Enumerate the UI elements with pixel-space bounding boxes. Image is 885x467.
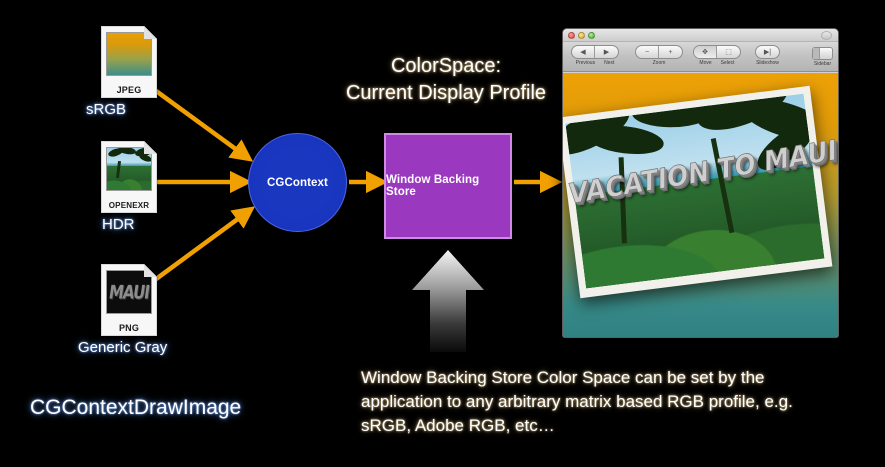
label-hdr: HDR <box>102 216 135 233</box>
colorspace-heading: ColorSpace: Current Display Profile <box>324 53 568 107</box>
window-titlebar[interactable] <box>563 29 838 42</box>
minimize-button-icon[interactable] <box>578 32 585 39</box>
select-tool-icon[interactable]: ⬚ <box>717 46 740 58</box>
page-fold-icon <box>144 26 157 39</box>
prev-next-segmented-control[interactable]: ◀ ▶ <box>571 45 619 59</box>
sidebar-label: Sidebar <box>814 61 831 67</box>
page-fold-icon <box>144 141 157 154</box>
move-tool-icon[interactable]: ✥ <box>694 46 717 58</box>
slideshow-button[interactable]: ▶| <box>755 45 780 59</box>
document-canvas[interactable]: VACATION TO MAUI <box>563 73 838 337</box>
arrow-gray-to-cgcontext <box>152 210 250 282</box>
slide-canvas: JPEG sRGB OPENEXR HDR MAUI PNG Generic G… <box>0 0 885 467</box>
file-kind-label: JPEG <box>101 85 157 95</box>
arrow-srgb-to-cgcontext <box>152 88 248 158</box>
toolbar-captions-navigation: Previous Next <box>576 60 615 66</box>
zoom-segmented-control[interactable]: − + <box>635 45 683 59</box>
label-generic-gray: Generic Gray <box>78 339 167 356</box>
preview-window[interactable]: ◀ ▶ Previous Next − + Zoom ✥ ⬚ <box>562 28 839 338</box>
zoom-button-icon[interactable] <box>588 32 595 39</box>
cgcontextdrawimage-label: CGContextDrawImage <box>30 396 241 420</box>
colorspace-heading-line1: ColorSpace: <box>324 53 568 80</box>
node-cgcontext[interactable]: CGContext <box>248 133 347 232</box>
node-cgcontext-label: CGContext <box>267 177 328 189</box>
next-icon[interactable]: ▶ <box>595 46 618 58</box>
file-icon-png[interactable]: MAUI PNG <box>101 264 157 336</box>
previous-label: Previous <box>576 60 595 66</box>
move-label: Move <box>699 60 711 66</box>
toolbar-captions-tools: Move Select <box>699 60 734 66</box>
toolbar-group-zoom[interactable]: − + Zoom <box>635 45 683 66</box>
colorspace-heading-line2: Current Display Profile <box>324 80 568 107</box>
page-fold-icon <box>144 264 157 277</box>
label-srgb: sRGB <box>86 101 126 118</box>
upward-arrow-icon <box>412 250 484 352</box>
window-controls[interactable] <box>568 32 595 39</box>
slideshow-label: Slideshow <box>756 60 779 66</box>
backing-store-caption: Window Backing Store Color Space can be … <box>361 366 841 438</box>
window-toolbar[interactable]: ◀ ▶ Previous Next − + Zoom ✥ ⬚ <box>563 42 838 72</box>
move-select-segmented-control[interactable]: ✥ ⬚ <box>693 45 741 59</box>
previous-icon[interactable]: ◀ <box>572 46 595 58</box>
select-label: Select <box>721 60 735 66</box>
toolbar-toggle-icon[interactable] <box>821 31 832 40</box>
file-icon-jpeg[interactable]: JPEG <box>101 26 157 98</box>
zoom-out-icon[interactable]: − <box>636 46 659 58</box>
close-button-icon[interactable] <box>568 32 575 39</box>
sidebar-icon <box>812 47 833 60</box>
sidebar-toggle-button[interactable]: Sidebar <box>812 47 833 67</box>
toolbar-group-navigation[interactable]: ◀ ▶ Previous Next <box>571 45 619 66</box>
file-kind-label: PNG <box>101 323 157 333</box>
node-window-backing-store[interactable]: Window Backing Store <box>384 133 512 239</box>
slideshow-icon[interactable]: ▶| <box>756 46 779 58</box>
photo-card[interactable]: VACATION TO MAUI <box>563 86 832 298</box>
node-backing-store-label: Window Backing Store <box>386 174 510 198</box>
zoom-label: Zoom <box>653 60 666 66</box>
thumbnail-text: MAUI <box>107 281 150 304</box>
zoom-in-icon[interactable]: + <box>659 46 682 58</box>
file-icon-openexr[interactable]: OPENEXR <box>101 141 157 213</box>
file-kind-label: OPENEXR <box>101 201 157 210</box>
next-label: Next <box>604 60 614 66</box>
toolbar-group-tools[interactable]: ✥ ⬚ Move Select <box>693 45 741 66</box>
toolbar-group-slideshow[interactable]: ▶| Slideshow <box>755 45 780 66</box>
